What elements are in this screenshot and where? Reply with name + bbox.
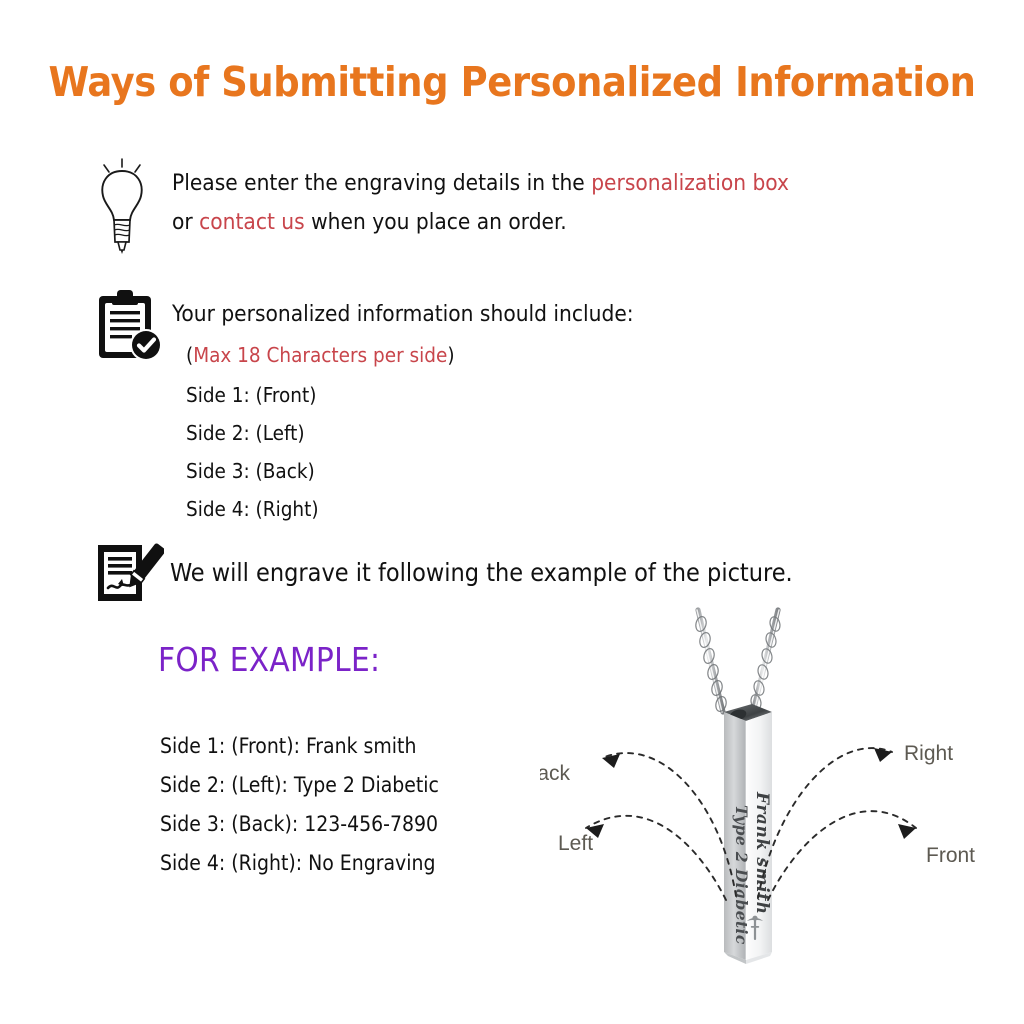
- arrow-path-front: [768, 811, 916, 900]
- requirements-heading: Your personalized information should inc…: [172, 303, 634, 326]
- requirement-side-2: Side 2: (Left): [186, 423, 305, 444]
- example-side-1: Side 1: (Front): Frank smith: [160, 736, 416, 757]
- tip-line-2-suffix: when you place an order.: [305, 209, 567, 235]
- requirement-side-4: Side 4: (Right): [186, 499, 319, 520]
- arrow-path-right: [758, 748, 892, 898]
- label-left: Left: [558, 832, 593, 855]
- paren-close: ): [447, 343, 454, 367]
- label-back: Back: [540, 762, 570, 785]
- for-example-heading: FOR EXAMPLE:: [158, 640, 380, 679]
- necklace-chain: [694, 610, 781, 712]
- tip-line-2: or contact us when you place an order.: [172, 211, 932, 234]
- label-front: Front: [926, 844, 975, 867]
- arrow-path-back: [602, 753, 736, 896]
- clipboard-check-icon: [96, 288, 168, 366]
- document-pencil-icon: [96, 543, 164, 609]
- contact-us-link[interactable]: contact us: [199, 209, 305, 235]
- requirement-side-1: Side 1: (Front): [186, 385, 316, 406]
- lightbulb-icon: [92, 158, 152, 258]
- tip-line-1-text: Please enter the engraving details in th…: [172, 170, 591, 196]
- personalization-box-link[interactable]: personalization box: [591, 170, 789, 196]
- max-characters-note: (Max 18 Characters per side): [186, 345, 455, 366]
- engrave-note-text: We will engrave it following the example…: [170, 560, 793, 585]
- example-side-3: Side 3: (Back): 123-456-7890: [160, 814, 438, 835]
- label-right: Right: [904, 742, 953, 765]
- example-side-4: Side 4: (Right): No Engraving: [160, 853, 435, 874]
- arrow-path-left: [586, 816, 726, 900]
- bar-pendant: Type 2 Diabetic Frank smith: [724, 704, 772, 964]
- tip-line-2-prefix: or: [172, 209, 199, 235]
- requirement-side-3: Side 3: (Back): [186, 461, 315, 482]
- product-photo: Type 2 Diabetic Frank smith: [540, 600, 1024, 1000]
- engraving-left-face: Type 2 Diabetic: [732, 805, 751, 945]
- example-side-2: Side 2: (Left): Type 2 Diabetic: [160, 775, 439, 796]
- tip-line-1: Please enter the engraving details in th…: [172, 172, 932, 195]
- page-title: Ways of Submitting Personalized Informat…: [0, 58, 1024, 106]
- page-root: Ways of Submitting Personalized Informat…: [0, 0, 1024, 1024]
- max-characters-text: Max 18 Characters per side: [193, 343, 447, 367]
